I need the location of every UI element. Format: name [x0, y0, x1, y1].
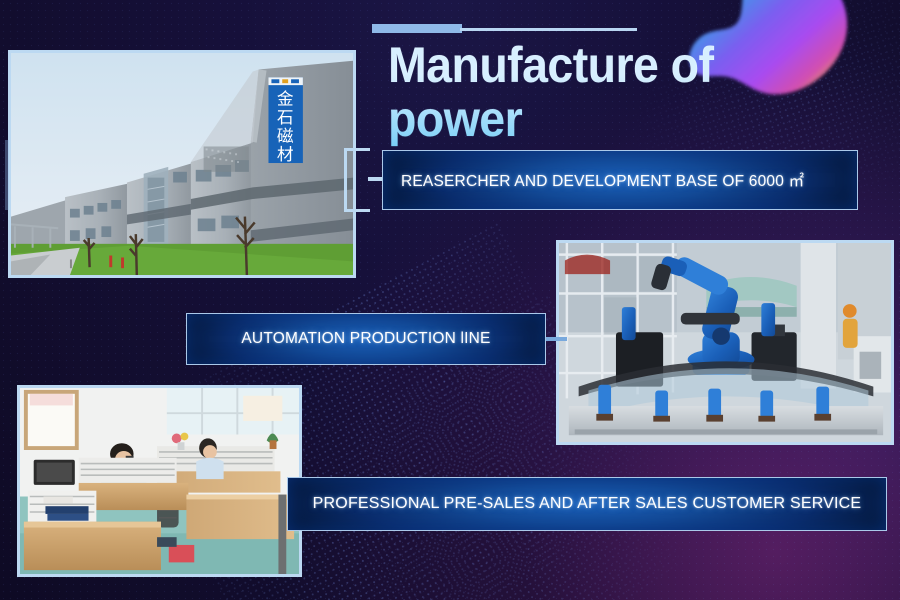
title-divider-thin — [460, 28, 637, 31]
callout-service[interactable]: PROFESSIONAL PRE-SALES AND AFTER SALES C… — [287, 477, 887, 531]
callout-automation[interactable]: AUTOMATION PRODUCTION lINE — [186, 313, 546, 365]
callout-automation-label: AUTOMATION PRODUCTION lINE — [203, 330, 529, 348]
photo-factory-building: 金 石 磁 材 — [8, 50, 356, 278]
svg-text:金: 金 — [277, 90, 294, 109]
factory-building-illustration: 金 石 磁 材 — [11, 53, 353, 275]
title-divider-thick — [372, 24, 462, 33]
connector-line-automation — [543, 337, 567, 341]
svg-text:磁: 磁 — [277, 127, 294, 146]
slide-canvas: Manufacture of power — [0, 0, 900, 600]
svg-text:材: 材 — [277, 145, 294, 164]
callout-rnd[interactable]: REASERCHER AND DEVELOPMENT BASE OF 6000 … — [382, 150, 858, 210]
office-staff-illustration — [20, 388, 299, 574]
photo-automation-robot — [556, 240, 894, 445]
svg-text:石: 石 — [277, 108, 294, 127]
automation-robot-illustration — [559, 243, 891, 442]
connector-edge-tick — [5, 140, 9, 210]
photo-office-staff — [17, 385, 302, 577]
connector-bracket-rnd — [344, 148, 370, 212]
title-divider-rule — [372, 24, 637, 33]
callout-service-label: PROFESSIONAL PRE-SALES AND AFTER SALES C… — [302, 495, 872, 513]
page-title: Manufacture of power — [388, 38, 825, 146]
callout-rnd-label: REASERCHER AND DEVELOPMENT BASE OF 6000 … — [401, 169, 839, 191]
